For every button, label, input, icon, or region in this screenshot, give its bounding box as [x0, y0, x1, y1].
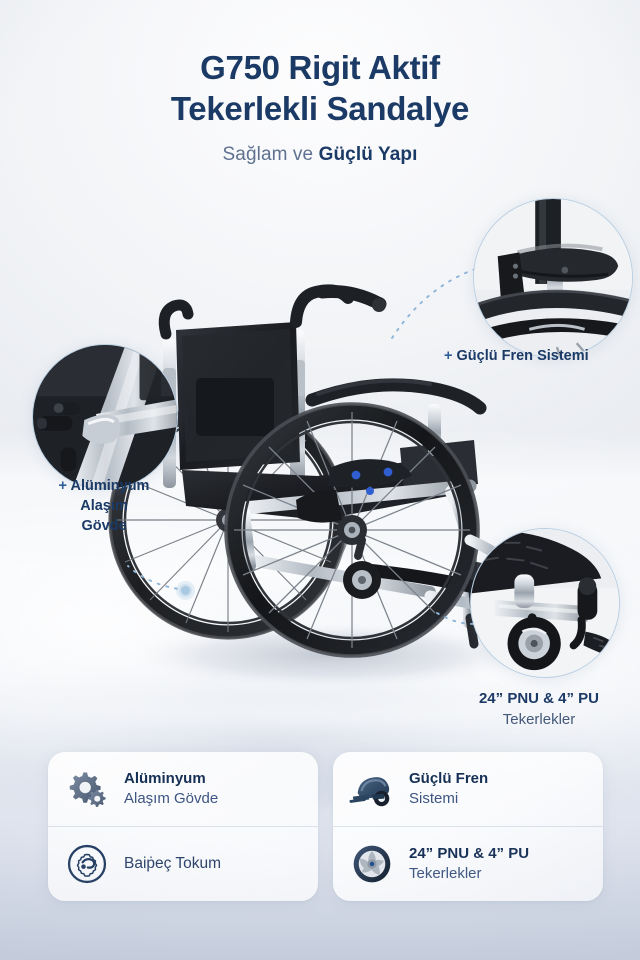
- callout-frame-text-1: Alüminyum: [71, 478, 150, 494]
- callout-wheels-bold: 24” PNU & 4” PU: [443, 688, 635, 709]
- brake-detail-image: [474, 199, 632, 357]
- right-card: Güçlü Fren Sistemi: [333, 752, 603, 901]
- feature-cards: Alüminyum Alaşım Gövde Baiṗ: [48, 752, 603, 901]
- feature-aluminium-subtitle: Alaşım Gövde: [124, 789, 218, 809]
- feature-row-wheels[interactable]: 24” PNU & 4” PU Tekerlekler: [333, 826, 603, 901]
- feature-row-aluminium[interactable]: Alüminyum Alaşım Gövde: [48, 752, 318, 826]
- feature-row-aluminium-text: Alüminyum Alaşım Gövde: [124, 769, 218, 809]
- frame-detail-magnifier[interactable]: [32, 344, 178, 490]
- gears-icon: [64, 766, 110, 812]
- feature-row-tokum[interactable]: Baiṗeç Tokum: [48, 826, 318, 901]
- left-card: Alüminyum Alaşım Gövde Baiṗ: [48, 752, 318, 901]
- feature-wheels-subtitle: Tekerlekler: [409, 864, 529, 884]
- callout-brake-text: Güçlü Fren Sistemi: [457, 348, 589, 364]
- feature-aluminium-title: Alüminyum: [124, 769, 218, 789]
- brake-icon: [349, 766, 395, 812]
- feature-row-wheels-text: 24” PNU & 4” PU Tekerlekler: [409, 844, 529, 884]
- brake-detail-magnifier[interactable]: [473, 198, 633, 358]
- callout-brake-plus: +: [444, 348, 452, 364]
- callout-frame-plus: +: [59, 478, 67, 494]
- caster-detail-image: [471, 529, 619, 677]
- callout-brake-label: + Güçlü Fren Sistemi: [444, 348, 589, 364]
- wheel-icon: [349, 841, 395, 887]
- gear-circle-icon: [64, 841, 110, 887]
- feature-wheels-title: 24” PNU & 4” PU: [409, 844, 529, 864]
- callout-frame-line-1: + Alüminyum: [34, 476, 174, 496]
- callout-frame-text-3: Gövde: [34, 516, 174, 536]
- promo-banner: G750 Rigit Aktif Tekerlekli Sandalye Sağ…: [0, 0, 640, 960]
- feature-brake-title: Güçlü Fren: [409, 769, 488, 789]
- callout-wheels-sub: Tekerlekler: [443, 709, 635, 730]
- callout-frame-label: + Alüminyum Alaşım Gövde: [34, 476, 174, 536]
- feature-row-tokum-text: Baiṗeç Tokum: [124, 854, 221, 875]
- callout-frame-text-2: Alaşım: [34, 496, 174, 516]
- caster-detail-magnifier[interactable]: [470, 528, 620, 678]
- callout-wheels-label: 24” PNU & 4” PU Tekerlekler: [443, 688, 635, 730]
- feature-brake-subtitle: Sistemi: [409, 789, 488, 809]
- frame-detail-image: [33, 345, 177, 489]
- feature-row-brake[interactable]: Güçlü Fren Sistemi: [333, 752, 603, 826]
- hotspot-dot-frame[interactable]: [179, 584, 192, 597]
- feature-tokum-title: Baiṗeç Tokum: [124, 854, 221, 875]
- feature-row-brake-text: Güçlü Fren Sistemi: [409, 769, 488, 809]
